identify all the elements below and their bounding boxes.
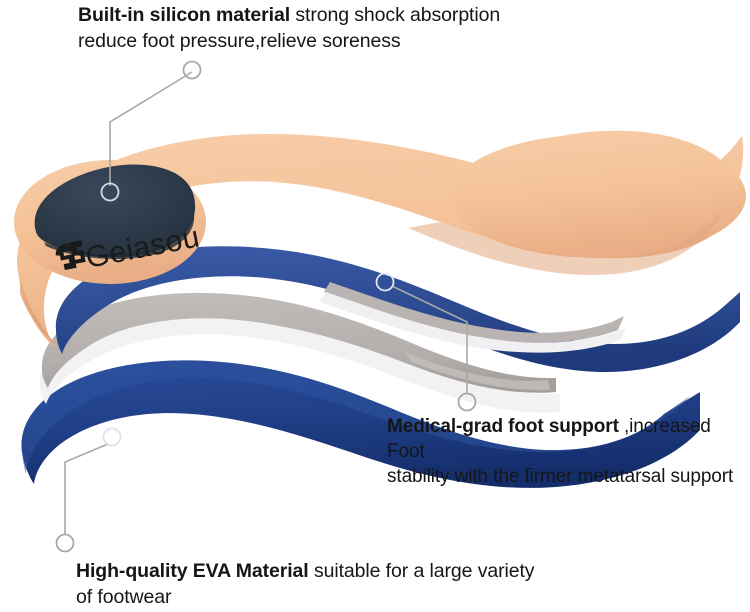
callout-eva-lead: High-quality EVA Material xyxy=(76,560,309,582)
callout-medical-foot-support: Medical-grad foot support ,increased Foo… xyxy=(387,414,743,489)
callout-silicon-lead: Built-in silicon material xyxy=(78,4,290,26)
callout-medical-line2: stability with the firmer metatarsal sup… xyxy=(387,464,743,489)
callout-silicon-line2: reduce foot pressure,relieve soreness xyxy=(78,29,548,55)
callout-silicon-material: Built-in silicon material strong shock a… xyxy=(78,3,548,54)
insole-illustration: Geiasou xyxy=(0,0,750,612)
callout-eva-line2: of footwear xyxy=(76,585,546,611)
callout-eva-rest: suitable for a large variety xyxy=(309,560,535,582)
callout-medical-lead: Medical-grad foot support xyxy=(387,416,619,437)
callout-eva-material: High-quality EVA Material suitable for a… xyxy=(76,559,546,610)
insole-product-infographic: Geiasou Built-in silicon material strong… xyxy=(0,0,750,612)
callout-silicon-rest: strong shock absorption xyxy=(290,4,500,26)
